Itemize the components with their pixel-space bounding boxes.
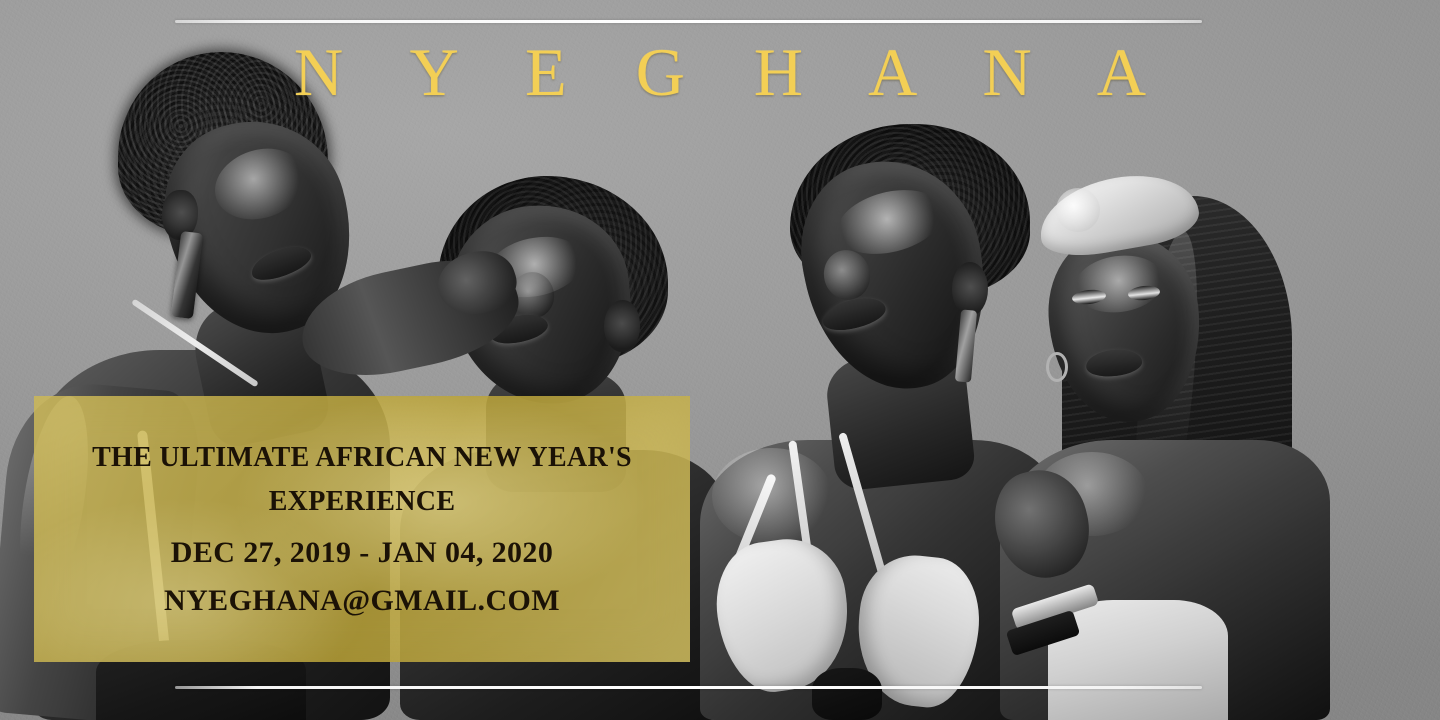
figure-four-headwrap-fold <box>1056 188 1100 232</box>
figure-two-ear <box>604 300 640 352</box>
event-email: NYEGHANA@GMAIL.COM <box>164 577 560 626</box>
figure-three-ear <box>952 262 988 316</box>
figure-four-hoop-earring <box>1046 352 1068 382</box>
event-info-content: THE ULTIMATE AFRICAN NEW YEAR'S EXPERIEN… <box>34 396 690 662</box>
bottom-divider-rule <box>175 686 1202 689</box>
page-title: N Y E G H A N A <box>0 38 1440 106</box>
event-dates: DEC 27, 2019 - JAN 04, 2020 <box>171 529 553 578</box>
event-info-panel: THE ULTIMATE AFRICAN NEW YEAR'S EXPERIEN… <box>34 396 690 662</box>
top-divider-rule <box>175 20 1202 23</box>
figure-three-bikini-knot <box>812 668 882 720</box>
figure-three-shoulder-highlight <box>712 448 832 544</box>
nye-ghana-event-flyer: N Y E G H A N A THE ULTIMATE AFRICAN NEW… <box>0 0 1440 720</box>
event-headline: THE ULTIMATE AFRICAN NEW YEAR'S EXPERIEN… <box>62 436 662 524</box>
